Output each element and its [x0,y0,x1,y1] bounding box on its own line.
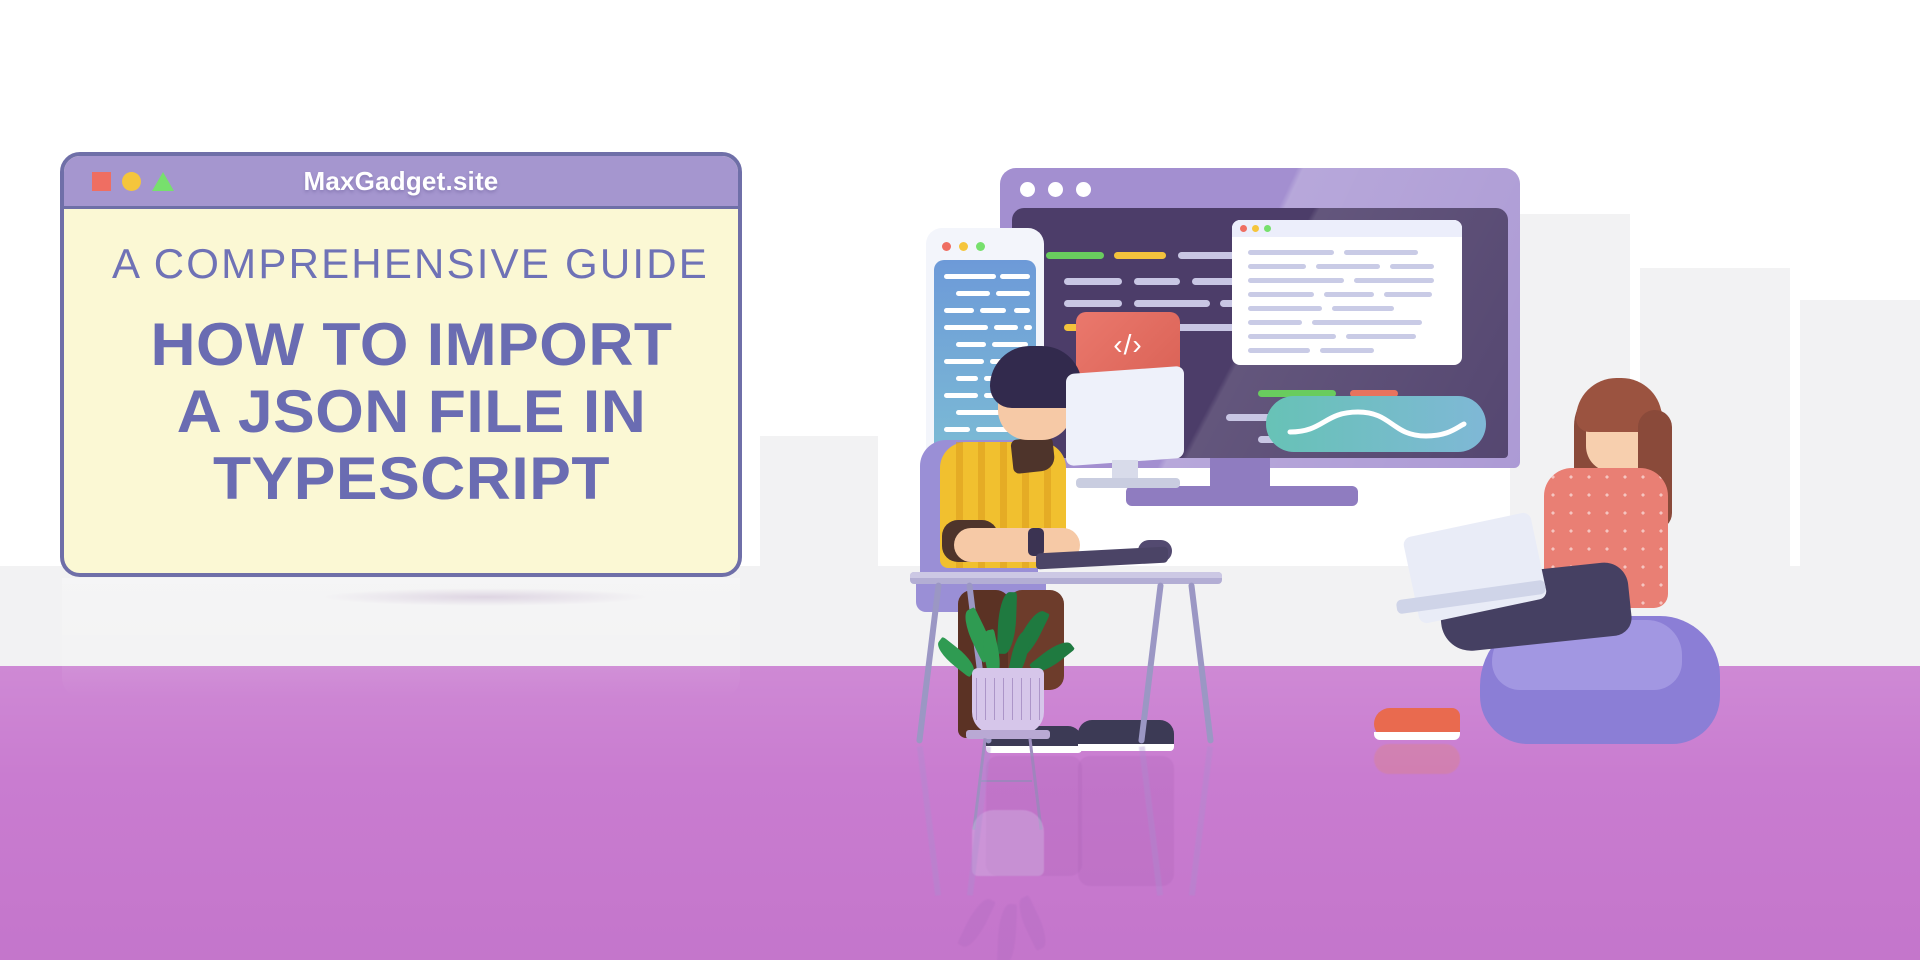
code-line [944,427,970,432]
man-shoe-sole [1078,744,1174,751]
monitor-base [1126,486,1358,506]
code-line [956,410,1000,415]
code-line [944,393,978,398]
document-line [1324,292,1374,297]
code-line [944,274,996,279]
desk-leg [1188,582,1214,744]
reflection-desk-leg [917,746,941,896]
document-line [1248,250,1334,255]
document-line [1354,278,1434,283]
browser-card: MaxGadget.site A COMPREHENSIVE GUIDE HOW… [60,152,742,577]
man-collar [1010,436,1055,474]
maximize-triangle-icon[interactable] [152,172,174,191]
code-line [1064,278,1122,285]
monitor-window-dots [1020,182,1091,197]
document-line [1248,334,1336,339]
code-tag-icon: ‹/› [1113,329,1142,361]
code-line [956,291,990,296]
close-square-icon[interactable] [92,172,111,191]
document-line [1390,264,1434,269]
minimize-circle-icon[interactable] [122,172,141,191]
reflection-desk-leg [1189,746,1213,896]
code-line [956,342,986,347]
sine-wave-icon [1266,396,1486,452]
document-line [1248,264,1306,269]
man-watch [1028,528,1044,556]
code-line [1134,278,1180,285]
code-line [956,376,978,381]
browser-titlebar: MaxGadget.site [64,156,738,209]
code-line [1000,274,1030,279]
window-controls[interactable] [92,172,174,191]
card-body: A COMPREHENSIVE GUIDE HOW TO IMPORT A JS… [64,209,738,513]
code-line [1134,300,1210,307]
code-line [944,325,988,330]
document-window-titlebar [1232,220,1462,237]
imac-base [1076,478,1180,488]
document-line [1248,278,1344,283]
code-line [1024,325,1032,330]
document-line [1346,334,1416,339]
reflection-plant-leaves [940,876,1080,960]
code-line [996,291,1030,296]
reflection-pot [972,810,1044,876]
skyline-block [760,436,878,666]
code-line [1014,308,1030,313]
reflection-woman-shoe [1374,744,1460,774]
document-line [1320,348,1374,353]
desk-top-highlight [910,572,1222,578]
document-line [1248,320,1302,325]
document-line [1384,292,1432,297]
plant-stand-top [966,730,1050,739]
document-line [1316,264,1380,269]
code-line [944,359,984,364]
document-line [1312,320,1422,325]
code-line [1114,252,1166,259]
document-line [1248,292,1314,297]
document-line [1248,306,1322,311]
plant-pot [972,668,1044,734]
headline-line-3: TYPESCRIPT [112,445,711,512]
code-line [1064,300,1122,307]
imac-screen [1066,366,1184,466]
headline: HOW TO IMPORT A JSON FILE IN TYPESCRIPT [112,311,730,513]
kicker-text: A COMPREHENSIVE GUIDE [112,243,706,285]
code-line [944,308,974,313]
headline-line-2: A JSON FILE IN [112,378,711,445]
woman-shoe-sole [1374,732,1460,740]
mobile-window-dots [942,242,985,251]
document-line [1248,348,1310,353]
hero-illustration: ‹/› [880,120,1920,960]
poster-canvas: ‹/› [0,0,1920,960]
document-line [1332,306,1394,311]
code-line [1046,252,1104,259]
card-shadow [320,588,650,606]
headline-line-1: HOW TO IMPORT [112,311,711,378]
document-line [1344,250,1418,255]
wave-panel [1266,396,1486,452]
man-shoe-sole [986,746,1082,753]
code-line [994,325,1018,330]
document-window [1232,220,1462,365]
code-line [980,308,1006,313]
